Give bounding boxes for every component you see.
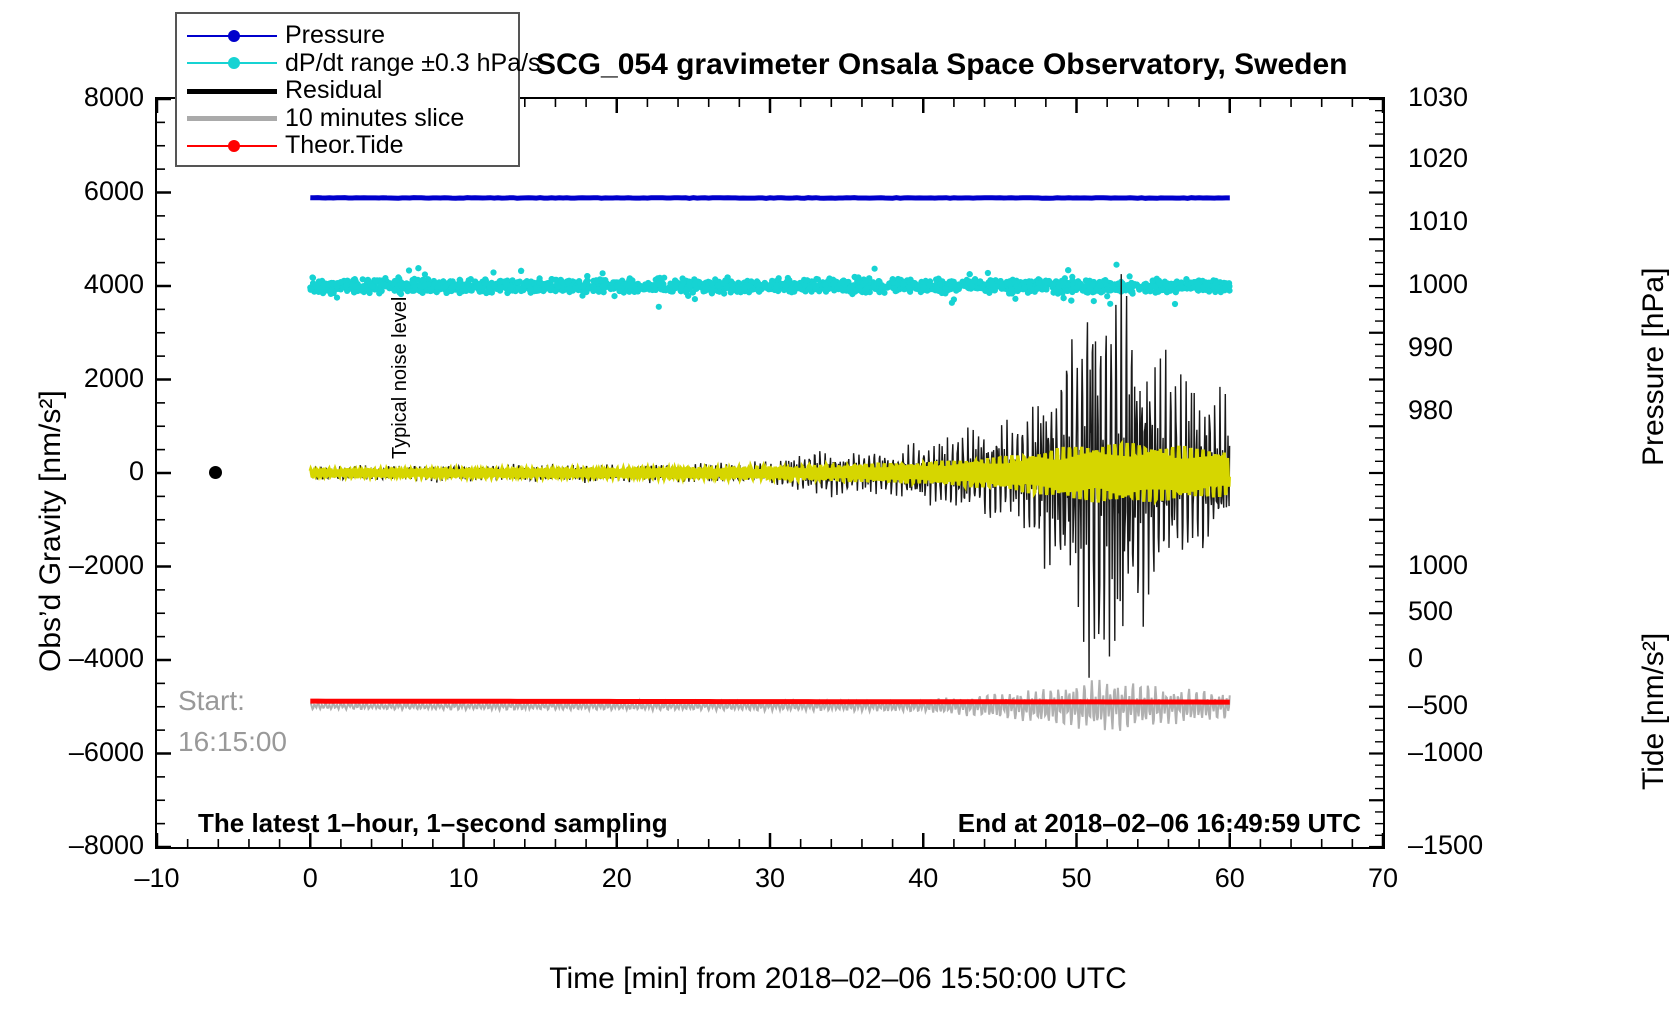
axis-tick-label: 0	[250, 863, 370, 894]
series-dpdt-scatter	[307, 262, 1232, 310]
axis-tick-label: 2000	[0, 363, 144, 394]
end-note: End at 2018–02–06 16:49:59 UTC	[958, 808, 1361, 839]
chart-page: Typical noise level Start: 16:15:00 The …	[0, 0, 1676, 1020]
legend-swatch-slice	[187, 108, 277, 128]
axis-tick-label: 6000	[0, 176, 144, 207]
legend-swatch-tide	[187, 136, 277, 156]
typical-noise-level-dot	[209, 466, 222, 479]
typical-noise-level-label: Typical noise level	[389, 297, 412, 459]
legend-swatch-pressure	[187, 26, 277, 46]
axis-tick-label: –1000	[1408, 737, 1528, 768]
legend-item-dpdt[interactable]: dP/dt range ±0.3 hPa/s	[187, 50, 508, 78]
chart-title: SCG_054 gravimeter Onsala Space Observat…	[536, 48, 1348, 82]
legend-swatch-dpdt	[187, 53, 277, 73]
axis-tick-label: –4000	[0, 643, 144, 674]
legend-label-tide: Theor.Tide	[285, 131, 404, 160]
axis-tick-label: 20	[557, 863, 677, 894]
plot-area: Typical noise level Start: 16:15:00 The …	[155, 97, 1385, 849]
legend-item-pressure[interactable]: Pressure	[187, 22, 508, 50]
y-axis-pressure-title: Pressure [hPa]	[1637, 268, 1671, 466]
axis-tick-label: 500	[1408, 596, 1528, 627]
axis-tick-label: –2000	[0, 550, 144, 581]
axis-tick-label: –10	[97, 863, 217, 894]
legend-label-pressure: Pressure	[285, 21, 385, 50]
axis-tick-label: –1500	[1408, 830, 1528, 861]
axis-tick-label: 60	[1170, 863, 1290, 894]
axis-tick-label: 1030	[1408, 82, 1528, 113]
axis-tick-label: 1000	[1408, 550, 1528, 581]
axis-tick-label: 4000	[0, 269, 144, 300]
start-label: Start:	[178, 685, 245, 717]
series-theor-tide	[310, 701, 1230, 702]
axis-tick-label: –8000	[0, 830, 144, 861]
axis-tick-label: 0	[0, 456, 144, 487]
y-axis-left-title: Obs’d Gravity [nm/s²]	[34, 390, 68, 672]
legend-item-residual[interactable]: Residual	[187, 77, 508, 105]
legend-item-tide[interactable]: Theor.Tide	[187, 132, 508, 160]
axis-tick-label: 1010	[1408, 206, 1528, 237]
axis-tick-label: 0	[1408, 643, 1528, 674]
axis-tick-label: –500	[1408, 690, 1528, 721]
legend-label-dpdt: dP/dt range ±0.3 hPa/s	[285, 49, 541, 78]
axis-tick-label: –6000	[0, 737, 144, 768]
legend-label-residual: Residual	[285, 76, 382, 105]
sampling-note: The latest 1–hour, 1–second sampling	[198, 808, 668, 839]
axis-tick-label: 980	[1408, 395, 1528, 426]
axis-tick-label: 30	[710, 863, 830, 894]
axis-tick-label: 40	[863, 863, 983, 894]
plot-canvas	[157, 99, 1383, 847]
series-pressure	[310, 198, 1230, 199]
axis-tick-label: 70	[1323, 863, 1443, 894]
axis-tick-label: 50	[1017, 863, 1137, 894]
y-axis-tide-title: Tide [nm/s²]	[1637, 633, 1671, 790]
legend-item-slice[interactable]: 10 minutes slice	[187, 105, 508, 133]
axis-tick-label: 8000	[0, 82, 144, 113]
legend-swatch-residual	[187, 81, 277, 101]
series-10min-slice	[310, 680, 1230, 731]
axis-tick-label: 10	[404, 863, 524, 894]
axis-tick-label: 1020	[1408, 143, 1528, 174]
legend-label-slice: 10 minutes slice	[285, 104, 464, 133]
axis-tick-label: 990	[1408, 332, 1528, 363]
start-time: 16:15:00	[178, 726, 287, 758]
legend: Pressure dP/dt range ±0.3 hPa/s Residual…	[175, 12, 520, 167]
x-axis-title: Time [min] from 2018–02–06 15:50:00 UTC	[0, 962, 1676, 996]
axis-tick-label: 1000	[1408, 269, 1528, 300]
